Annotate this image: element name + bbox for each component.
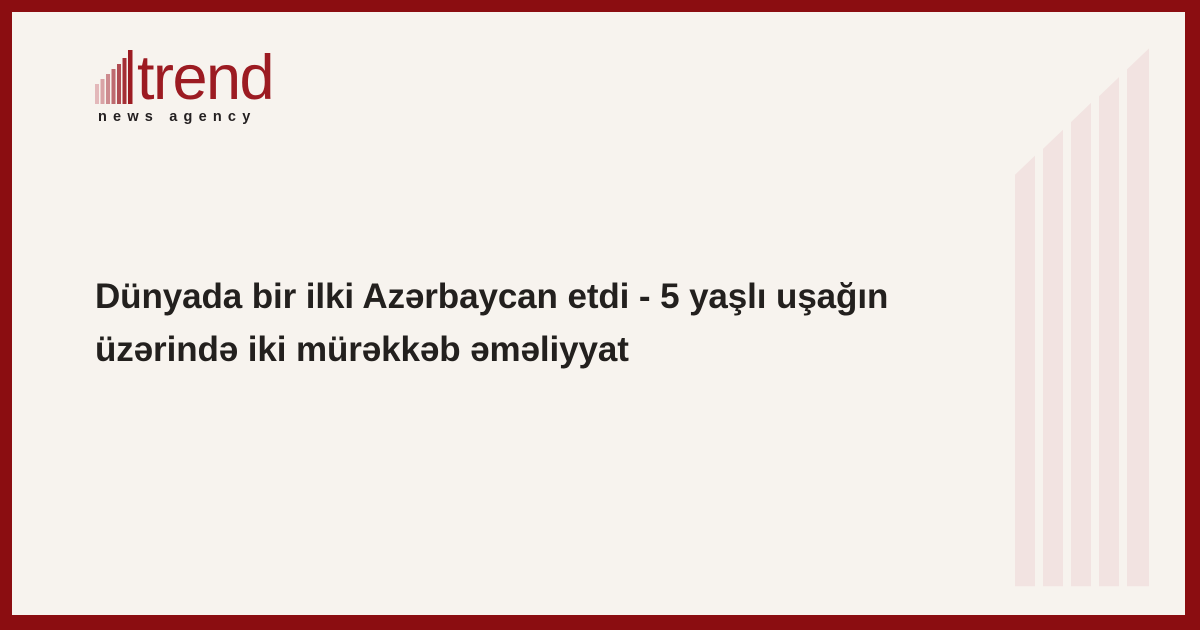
- watermark-bar-4: [1099, 77, 1119, 586]
- trend-bars-mark-icon: [95, 46, 139, 104]
- watermark-bar-1: [1015, 156, 1035, 587]
- logo-wordmark: trend: [137, 49, 273, 107]
- watermark-bar-3: [1071, 103, 1091, 586]
- watermark-bar-2: [1043, 130, 1063, 587]
- site-logo[interactable]: trend news agency: [95, 42, 355, 125]
- bar-chart-watermark: [1001, 12, 1181, 615]
- logo-lockup: trend: [95, 42, 355, 104]
- share-card: trend news agency Dünyada bir ilki Azərb…: [0, 0, 1200, 630]
- article-headline: Dünyada bir ilki Azərbaycan etdi - 5 yaş…: [95, 270, 985, 376]
- card-canvas: trend news agency Dünyada bir ilki Azərb…: [12, 12, 1185, 615]
- watermark-bar-5: [1127, 48, 1149, 586]
